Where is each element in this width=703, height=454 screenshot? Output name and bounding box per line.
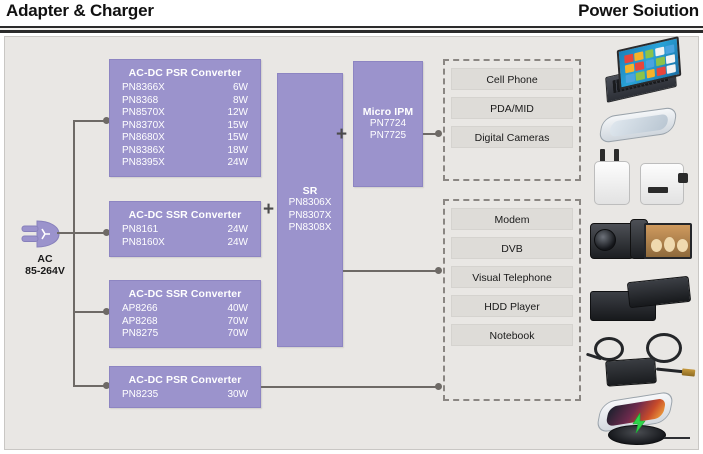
smartphone-photo	[594, 109, 690, 143]
part-number: PN8235	[122, 389, 158, 402]
plus-operator-2: +	[336, 125, 347, 144]
part-row: AP8266 40W	[122, 303, 248, 316]
block-title: AC-DC SSR Converter	[110, 202, 260, 221]
block-acdc-ssr-converter-1[interactable]: AC-DC SSR Converter PN8161 24W PN8160X 2…	[109, 201, 261, 257]
part-power: 24W	[227, 237, 248, 250]
part-row: PN8386X 18W	[122, 145, 248, 158]
laptop-tablet-photo	[596, 43, 692, 105]
block-title: AC-DC SSR Converter	[110, 281, 260, 300]
part-row: PN8235 30W	[122, 389, 248, 402]
app-item-digital-cameras[interactable]: Digital Cameras	[451, 126, 573, 148]
part-list: PN8366X 6W PN8368 8W PN8570X 12W PN8370X…	[110, 79, 260, 170]
part-list: PN8235 30W	[110, 386, 260, 402]
part-row: AP8268 70W	[122, 316, 248, 329]
part-power: 40W	[227, 303, 248, 316]
part-power: 12W	[227, 107, 248, 120]
part-row: PN8368 8W	[122, 95, 248, 108]
block-title: AC-DC PSR Converter	[110, 367, 260, 386]
camcorder-photo	[588, 215, 696, 269]
wire-node-7	[435, 383, 442, 390]
wireless-charging-phone-photo	[586, 397, 698, 449]
part-number: PN8161	[122, 224, 158, 237]
wire-branch-1	[73, 120, 105, 122]
usb-cube-charger-photo	[638, 159, 694, 211]
part-number: PN7725	[354, 130, 422, 143]
part-power: 15W	[227, 120, 248, 133]
part-power: 30W	[227, 389, 248, 402]
part-number: PN8308X	[278, 222, 342, 235]
app-item-dvb[interactable]: DVB	[451, 237, 573, 259]
usb-wall-charger-photo	[590, 149, 636, 207]
block-title: SR	[278, 185, 342, 197]
block-acdc-ssr-converter-2[interactable]: AC-DC SSR Converter AP8266 40W AP8268 70…	[109, 280, 261, 348]
part-number: PN8370X	[122, 120, 165, 133]
app-group-home: Modem DVB Visual Telephone HDD Player No…	[443, 199, 581, 401]
ac-plug-icon	[19, 217, 65, 251]
app-group-mobile: Cell Phone PDA/MID Digital Cameras	[443, 59, 581, 181]
wire-sr-to-apps	[343, 270, 439, 272]
app-item-cell-phone[interactable]: Cell Phone	[451, 68, 573, 90]
block-acdc-psr-converter-2[interactable]: AC-DC PSR Converter PN8235 30W	[109, 366, 261, 408]
part-list: PN7724 PN7725	[354, 118, 422, 143]
part-number: PN8368	[122, 95, 158, 108]
part-number: PN8570X	[122, 107, 165, 120]
part-number: PN8160X	[122, 237, 165, 250]
diagram-page: Adapter & Charger Power Soiution AC 85-2…	[0, 0, 703, 454]
app-item-hdd-player[interactable]: HDD Player	[451, 295, 573, 317]
part-number: AP8266	[122, 303, 158, 316]
part-list: PN8161 24W PN8160X 24W	[110, 221, 260, 249]
part-number: PN8275	[122, 328, 158, 341]
part-power: 6W	[233, 82, 248, 95]
part-row: PN8161 24W	[122, 224, 248, 237]
part-row: PN8275 70W	[122, 328, 248, 341]
laptop-power-adapter-photo	[586, 333, 698, 399]
part-row: PN8370X 15W	[122, 120, 248, 133]
block-micro-ipm[interactable]: Micro IPM PN7724 PN7725	[353, 61, 423, 187]
wire-node-5	[435, 130, 442, 137]
part-number: PN8386X	[122, 145, 165, 158]
part-power: 24W	[227, 224, 248, 237]
header-title-left: Adapter & Charger	[6, 1, 154, 21]
page-header: Adapter & Charger Power Soiution	[0, 0, 703, 26]
product-photo-column	[586, 37, 698, 449]
set-top-box-photo	[588, 277, 696, 327]
part-power: 70W	[227, 316, 248, 329]
part-power: 24W	[227, 157, 248, 170]
header-title-right: Power Soiution	[578, 1, 699, 21]
wire-psr2-to-apps	[261, 386, 439, 388]
part-number: PN8307X	[278, 210, 342, 223]
wire-branch-3	[73, 311, 105, 313]
block-sr[interactable]: SR PN8306X PN8307X PN8308X	[277, 73, 343, 347]
part-row: PN8680X 15W	[122, 132, 248, 145]
app-item-visual-telephone[interactable]: Visual Telephone	[451, 266, 573, 288]
part-row: PN8366X 6W	[122, 82, 248, 95]
part-number: PN7724	[354, 118, 422, 131]
part-number: PN8395X	[122, 157, 165, 170]
app-item-notebook[interactable]: Notebook	[451, 324, 573, 346]
block-acdc-psr-converter-1[interactable]: AC-DC PSR Converter PN8366X 6W PN8368 8W…	[109, 59, 261, 177]
part-row: PN8160X 24W	[122, 237, 248, 250]
part-list: AP8266 40W AP8268 70W PN8275 70W	[110, 300, 260, 341]
block-title: Micro IPM	[354, 106, 422, 118]
part-row: PN8570X 12W	[122, 107, 248, 120]
part-number: PN8366X	[122, 82, 165, 95]
block-title: AC-DC PSR Converter	[110, 60, 260, 79]
wire-bus-vertical	[73, 120, 75, 386]
part-power: 15W	[227, 132, 248, 145]
wire-branch-4	[73, 385, 105, 387]
part-number: AP8268	[122, 316, 158, 329]
plus-operator-1: +	[263, 200, 274, 219]
part-number: PN8680X	[122, 132, 165, 145]
app-item-modem[interactable]: Modem	[451, 208, 573, 230]
app-item-pda-mid[interactable]: PDA/MID	[451, 97, 573, 119]
part-power: 70W	[227, 328, 248, 341]
header-rule-bottom	[0, 30, 703, 33]
part-list: PN8306X PN8307X PN8308X	[278, 197, 342, 235]
wire-node-6	[435, 267, 442, 274]
part-power: 8W	[233, 95, 248, 108]
part-row: PN8395X 24W	[122, 157, 248, 170]
part-number: PN8306X	[278, 197, 342, 210]
part-power: 18W	[227, 145, 248, 158]
diagram-canvas: AC 85-264V AC-DC PSR Converter PN8366X 6…	[4, 36, 699, 450]
ac-source-label: AC 85-264V	[9, 253, 81, 277]
wire-branch-2	[73, 232, 105, 234]
